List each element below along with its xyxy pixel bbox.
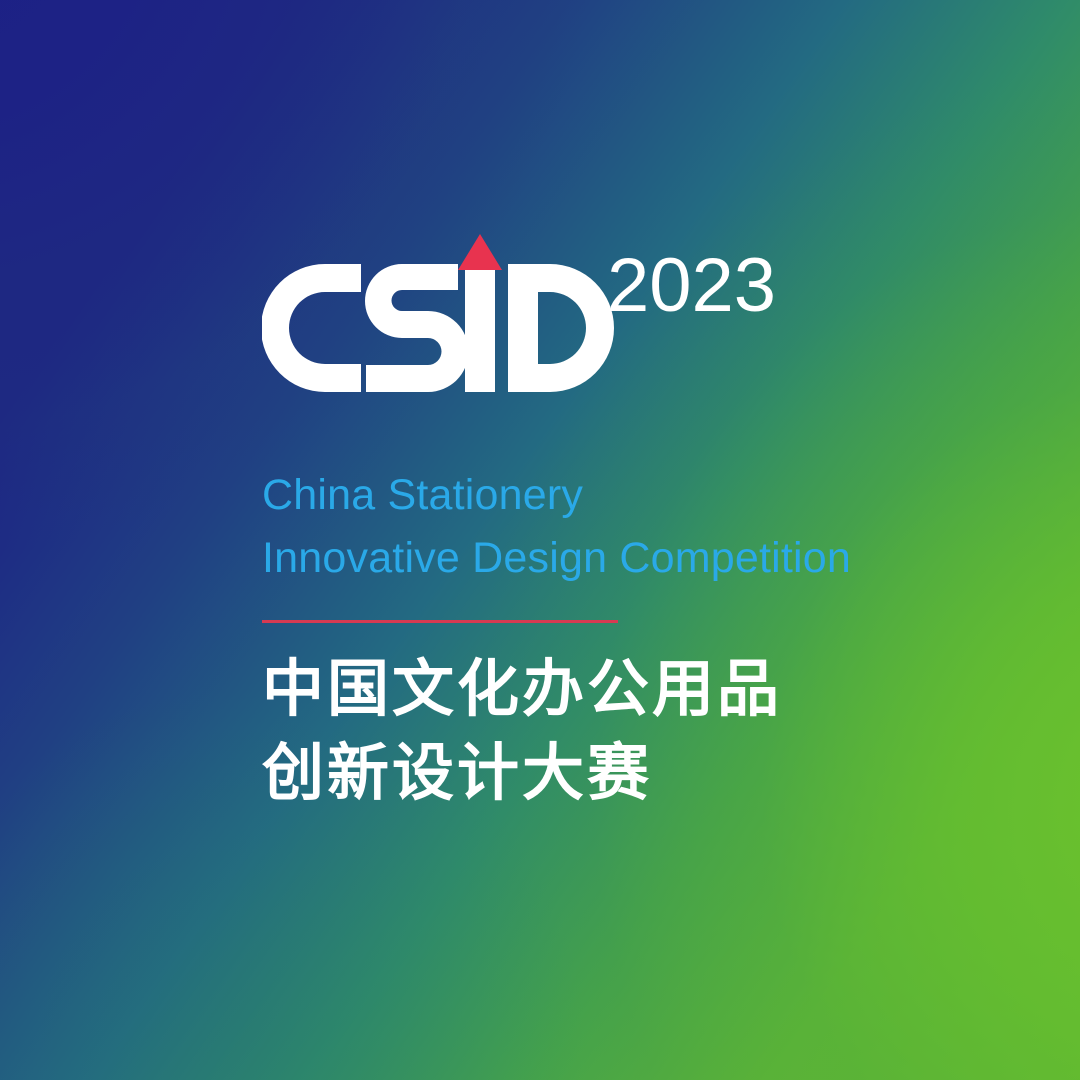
logo-lockup: 2023 (262, 228, 792, 428)
content-stack: 2023 China Stationery Innovative Design … (262, 228, 1022, 815)
logo-year: 2023 (607, 248, 776, 324)
pencil-tip-triangle-icon (458, 234, 502, 270)
red-divider-rule (262, 620, 618, 623)
chinese-title-line-1: 中国文化办公用品 (262, 647, 1022, 731)
chinese-title-block: 中国文化办公用品 创新设计大赛 (262, 647, 1022, 815)
subtitle-line-1: China Stationery (262, 464, 1022, 527)
poster-canvas: 2023 China Stationery Innovative Design … (0, 0, 1080, 1080)
subtitle-block: China Stationery Innovative Design Compe… (262, 464, 1022, 590)
subtitle-line-2: Innovative Design Competition (262, 527, 1022, 590)
chinese-title-line-2: 创新设计大赛 (262, 731, 1022, 815)
csid-wordmark-icon (262, 228, 622, 428)
